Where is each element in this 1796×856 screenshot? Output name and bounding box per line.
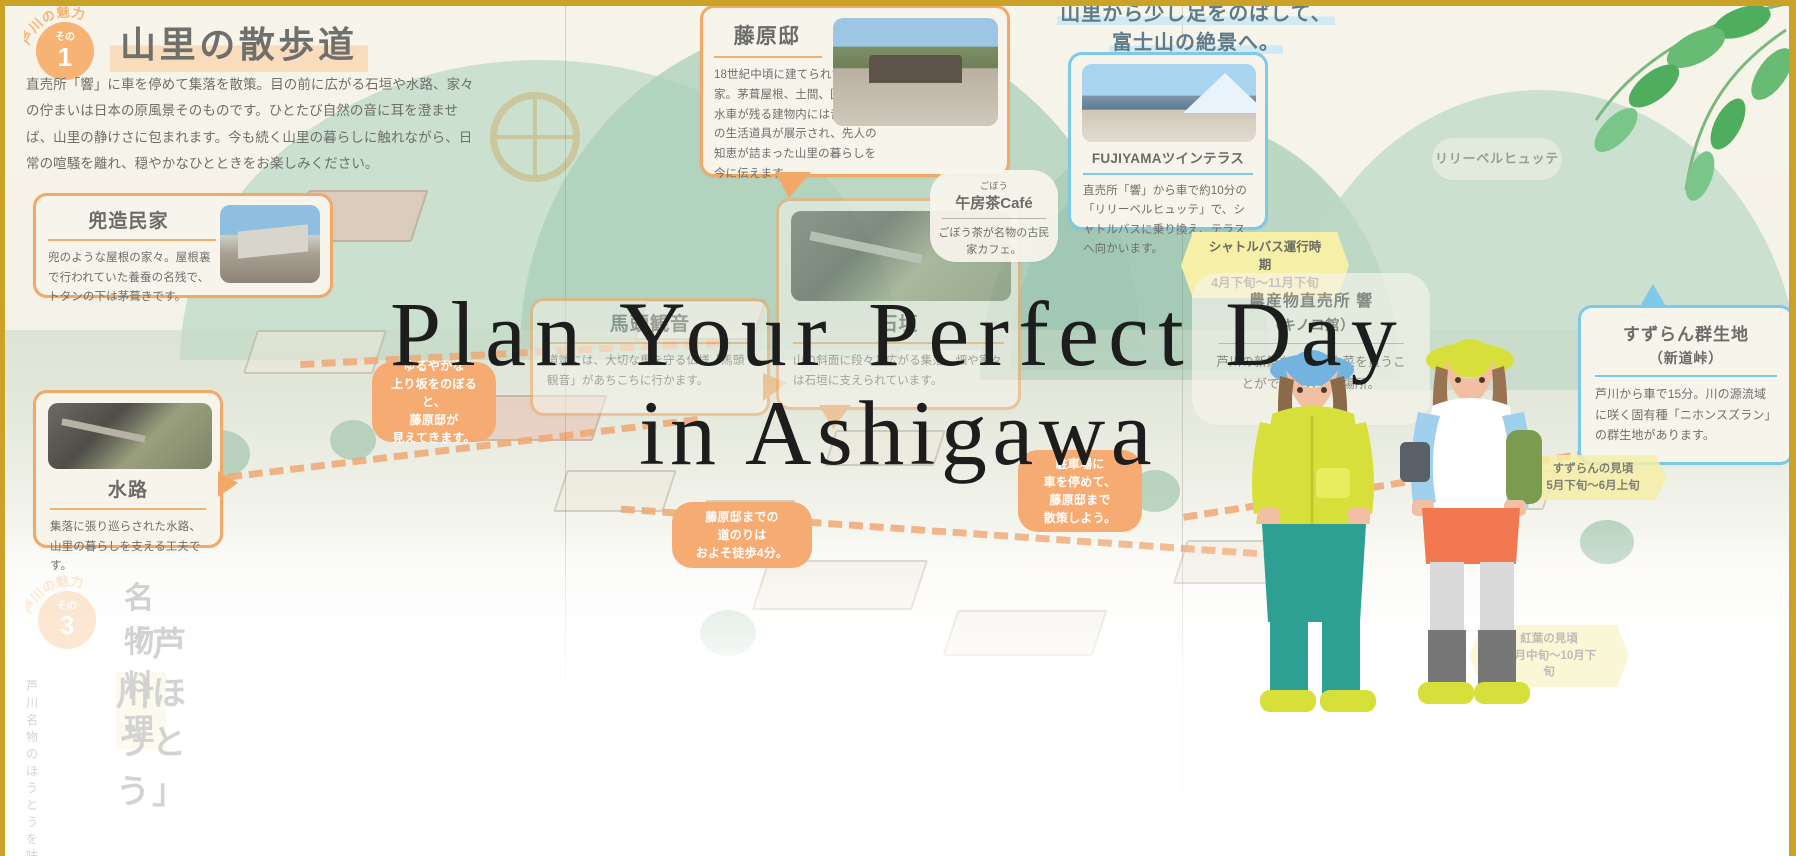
card-suiro[interactable]: 水路 集落に張り巡らされた水路、山里の暮らしを支える工夫です。 [33, 390, 223, 548]
card-divider [48, 239, 216, 241]
card-fujiwara-title: 藤原邸 [703, 8, 831, 50]
card-batoukannon-title: 馬頭観音 [533, 301, 767, 336]
card-divider [1083, 173, 1253, 175]
gold-top-band [0, 0, 1796, 6]
card-tail [1639, 284, 1667, 308]
card-ishigaki-body: 山の斜面に段々と広がる集落。畑や家々は石垣に支えられています。 [779, 352, 1018, 402]
card-gobou-ruby: ごぼう [930, 179, 1058, 192]
bubble-slope: ゆるやかな 上り坂をのぼると、 藤原邸が 見えてきます。 [372, 362, 496, 442]
kabutozukuri-photo [220, 205, 320, 283]
right-headline-line1: 山里から少し足をのばして、 [1057, 3, 1334, 25]
card-tail [819, 405, 851, 429]
village-roof [824, 430, 946, 466]
card-kabutozukuri[interactable]: 兜造民家 兜のような屋根の家々。屋根裏で行われていた養蚕の名残で、トタンの下は茅… [33, 193, 333, 298]
badge-sono-label: その [55, 33, 75, 43]
section3-badge: 芦川の魅力 その 3 [30, 575, 104, 649]
card-suzuran[interactable]: すずらん群生地 （新道峠） 芦川から車で15分。川の源流域に咲く固有種「ニホンス… [1578, 305, 1794, 465]
section1-badge: 芦川の魅力 その 1 [28, 6, 102, 80]
section3-title-big: 「芦川ほうとう」 [116, 617, 188, 813]
section3-lead: 芦川名物のほうとうを味わう [26, 677, 38, 856]
card-batoukannon-body: 道端には、大切な馬を守る仏様「馬頭観音」があちこちに行かます。 [533, 352, 767, 402]
fujiwara-photo [833, 18, 998, 126]
card-chokubaijo-title: 農産物直売所 響 [1192, 273, 1430, 311]
bubble-walk-4min: 藤原邸までの 道のりは およそ徒歩4分。 [672, 502, 812, 568]
card-batoukannon[interactable]: 馬頭観音 道端には、大切な馬を守る仏様「馬頭観音」があちこちに行かます。 [530, 298, 770, 416]
gold-right-band [1789, 0, 1796, 856]
village-roof [553, 470, 677, 512]
tree-illustration [1580, 520, 1634, 564]
tree-illustration [700, 610, 756, 656]
badge-circle: その 3 [38, 591, 96, 649]
card-divider [1595, 375, 1777, 377]
card-divider [942, 218, 1046, 219]
card-kabutozukuri-title: 兜造民家 [36, 196, 221, 233]
right-headline: 山里から少し足をのばして、 富士山の絶景へ。 [1016, 0, 1376, 58]
tree-illustration [330, 420, 376, 460]
gold-left-band [0, 0, 5, 856]
card-fujiyama-twin-terrace[interactable]: FUJIYAMAツインテラス 直売所「響」から車で約10分の「リリーベルヒュッテ… [1068, 52, 1268, 230]
card-gobou-cafe[interactable]: ごぼう 午房茶Café ごぼう茶が名物の古民家カフェ。 [930, 170, 1058, 262]
right-headline-line2: 富士山の絶景へ。 [1109, 32, 1283, 54]
suiro-photo [48, 403, 212, 469]
card-divider [547, 342, 753, 344]
section1-lead-text: 直売所「響」に車を停めて集落を散策。目の前に広がる石垣や水路、家々の佇まいは日本… [26, 72, 476, 177]
card-gobou-header: ごぼう 午房茶Café [930, 170, 1058, 213]
village-roof [243, 330, 387, 374]
village-roof [943, 610, 1108, 656]
card-fujiwara[interactable]: 藤原邸 18世紀中頃に建てられた兜造民家。茅葺屋根、土間、囲炉裏、水車が残る建物… [700, 5, 1010, 177]
card-suzuran-title: すずらん群生地 [1581, 308, 1791, 345]
card-tail [218, 471, 238, 497]
card-gobou-body: ごぼう茶が名物の古民家カフェ。 [930, 225, 1058, 259]
vine-decoration [1376, 0, 1796, 230]
badge-number: 1 [58, 44, 72, 70]
badge-number: 3 [60, 612, 74, 638]
card-kabutozukuri-body: 兜のような屋根の家々。屋根裏で行われていた養蚕の名残で、トタンの下は茅葺きです。 [36, 249, 228, 318]
card-suzuran-subtitle: （新道峠） [1581, 345, 1791, 368]
card-gobou-title: 午房茶Café [955, 195, 1033, 212]
page-fold-line [565, 0, 566, 856]
section1-title: 山里の散歩道 [110, 14, 368, 72]
card-suzuran-body: 芦川から車で15分。川の源流域に咲く固有種「ニホンスズラン」の群生地があります。 [1581, 384, 1791, 446]
card-divider [714, 56, 822, 58]
card-tail [775, 172, 811, 198]
card-divider [793, 342, 1004, 344]
card-divider [50, 508, 206, 510]
fujiyama-photo [1082, 64, 1256, 142]
poster-canvas: 芦川の魅力 その 1 山里の散歩道 直売所「響」に車を停めて集落を散策。目の前に… [0, 0, 1796, 856]
hiker-illustration-right [1378, 310, 1568, 720]
water-wheel-illustration [490, 92, 580, 182]
bubble-parking: 駐車場に 車を停めて、 藤原邸まで 散策しよう。 [1018, 450, 1142, 532]
